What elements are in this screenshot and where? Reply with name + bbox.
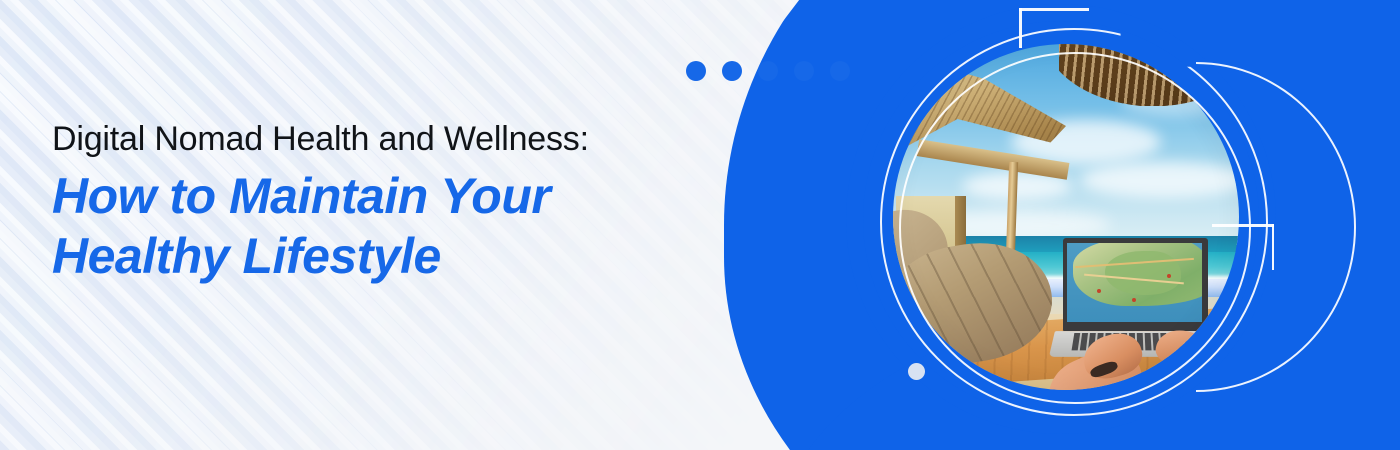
headline-line-2: Healthy Lifestyle [52, 226, 812, 286]
promo-banner: Digital Nomad Health and Wellness: How t… [0, 0, 1400, 450]
headline-line-1: How to Maintain Your [52, 166, 812, 226]
bracket-vertical-line [1019, 8, 1022, 48]
headline-main: How to Maintain Your Healthy Lifestyle [52, 166, 812, 286]
bracket-horizontal-line [1019, 8, 1089, 11]
headline-kicker: Digital Nomad Health and Wellness: [52, 118, 812, 160]
dot-2 [722, 61, 742, 81]
bracket-vertical-line [1272, 224, 1275, 270]
dot-3 [758, 61, 778, 81]
headline-block: Digital Nomad Health and Wellness: How t… [52, 118, 812, 286]
arc-node-dot [908, 363, 925, 380]
dot-1 [686, 61, 706, 81]
bracket-horizontal-line [1212, 224, 1274, 227]
corner-bracket-right [1212, 224, 1274, 270]
dot-5 [830, 61, 850, 81]
dot-row [686, 61, 850, 81]
corner-bracket-top [1019, 8, 1089, 48]
dot-4 [794, 61, 814, 81]
